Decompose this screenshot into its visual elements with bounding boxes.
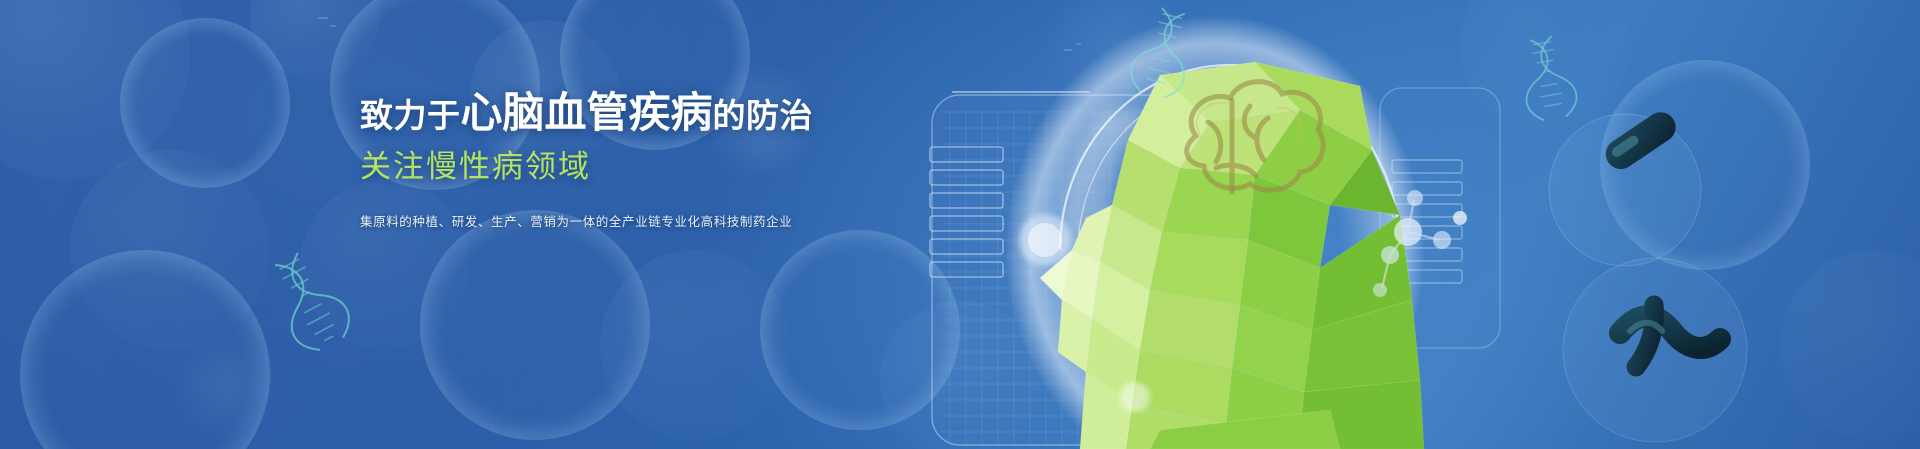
banner-artwork [0,0,1920,449]
tagline: 集原料的种植、研发、生产、营销为一体的全产业链专业化高科技制药企业 [360,216,790,229]
cell-cross-icon [1563,258,1747,442]
headline-suffix: 的防治 [713,97,814,134]
headline-emphasis: 心脑血管疾病 [461,89,713,136]
subheadline: 关注慢性病领域 [360,151,790,182]
tech-ticks [318,18,1081,50]
headline-prefix: 致力于 [360,97,461,134]
page-title: 致力于心脑血管疾病的防治 [360,92,790,134]
cell-rod-icon [1549,106,1701,266]
hero-text-block: 致力于心脑血管疾病的防治 关注慢性病领域 集原料的种植、研发、生产、营销为一体的… [360,92,790,229]
hero-banner: 致力于心脑血管疾病的防治 关注慢性病领域 集原料的种植、研发、生产、营销为一体的… [0,0,1920,449]
